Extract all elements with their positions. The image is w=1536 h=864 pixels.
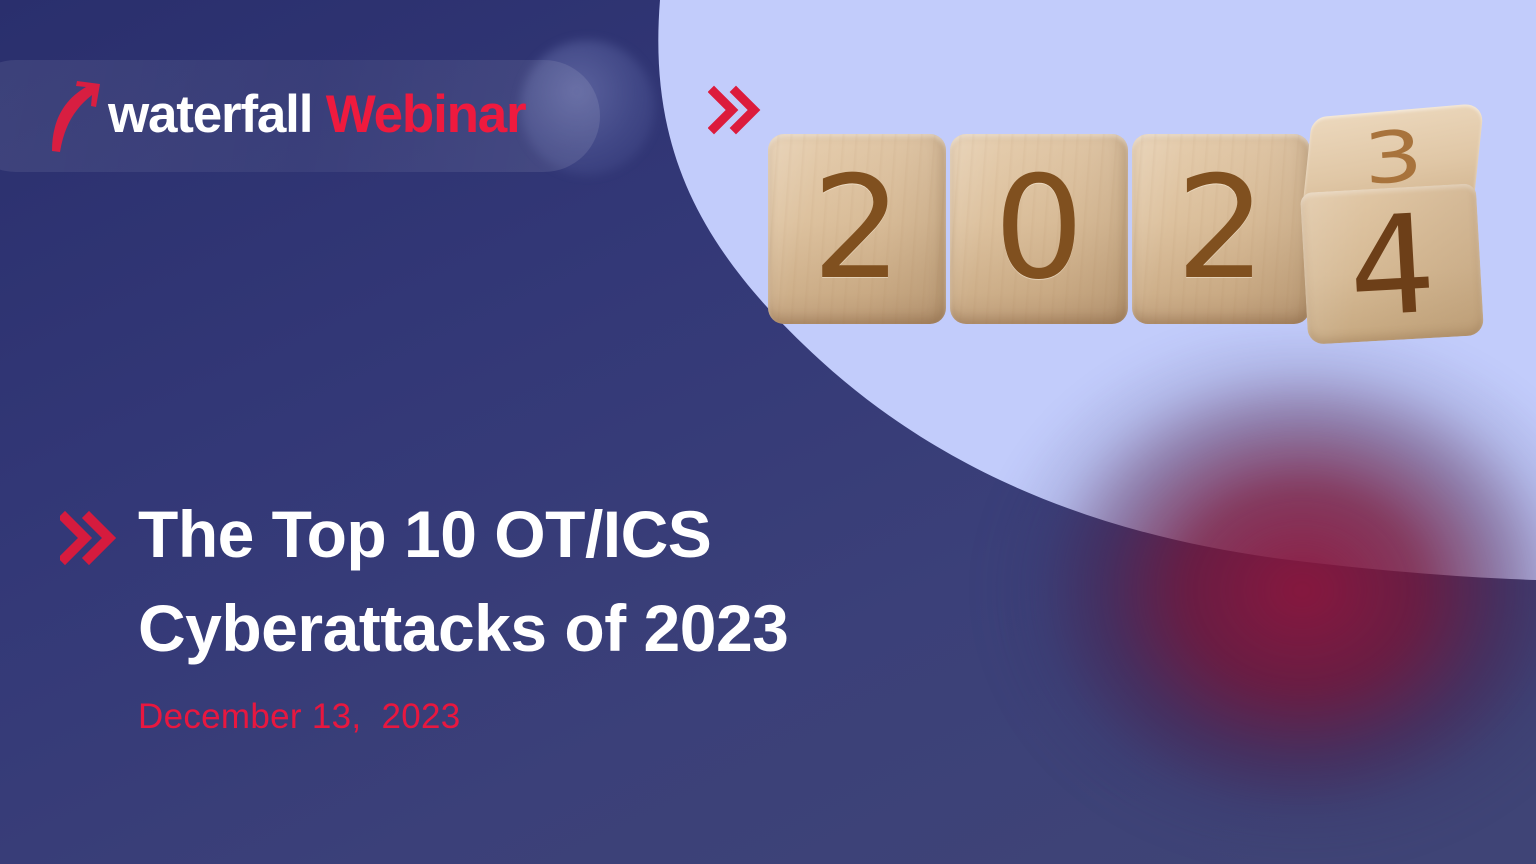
page-title: The Top 10 OT/ICS Cyberattacks of 2023 [138, 488, 788, 675]
headline-block: The Top 10 OT/ICS Cyberattacks of 2023 D… [60, 488, 1020, 737]
wooden-blocks-group: 2 0 2 3 4 [768, 96, 1488, 346]
brand-name-accent: Webinar [326, 85, 526, 144]
wood-block-digit: 2 [812, 158, 902, 300]
wood-block-top-digit: 3 [1361, 120, 1424, 196]
brand-wordmark: waterfall Webinar [108, 88, 525, 145]
wood-block-front-digit: 4 [1345, 197, 1439, 338]
wood-block-flipping: 3 4 [1302, 110, 1482, 340]
wood-block-digit: 0 [994, 158, 1084, 300]
wood-block-front-face: 4 [1300, 183, 1484, 345]
brand-logo-badge: waterfall Webinar [0, 60, 600, 172]
brand-name-primary: waterfall [108, 85, 312, 144]
waterfall-arrow-icon [46, 79, 102, 153]
wood-block-1: 2 [768, 134, 946, 324]
wood-block-3: 2 [1132, 134, 1310, 324]
webinar-banner: waterfall Webinar 2 0 2 3 4 [0, 0, 1536, 864]
double-chevron-right-icon-headline [60, 510, 116, 566]
webinar-date: December 13, 2023 [138, 697, 1020, 737]
double-chevron-right-icon-top [708, 84, 764, 136]
wood-block-2: 0 [950, 134, 1128, 324]
brand-name-space [312, 85, 326, 144]
wood-block-digit: 2 [1176, 158, 1266, 300]
